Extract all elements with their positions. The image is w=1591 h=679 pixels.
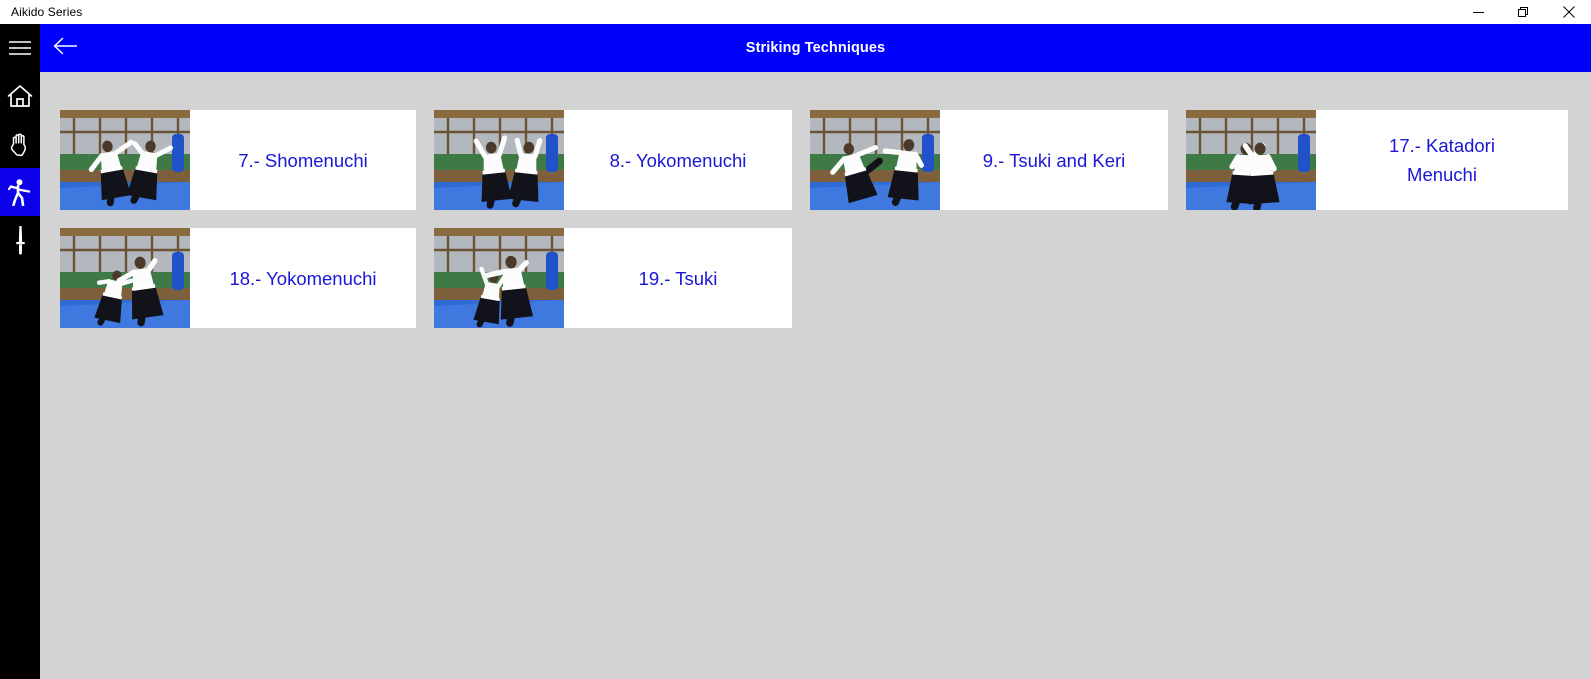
restore-button[interactable]: [1501, 0, 1546, 24]
hamburger-menu-icon: [8, 39, 32, 57]
window-controls: [1456, 0, 1591, 24]
technique-card-label: 9.- Tsuki and Keri: [940, 110, 1168, 210]
open-hand-icon: [8, 131, 32, 157]
aikido-yokomenuchi-2-thumb: [60, 228, 190, 328]
close-button[interactable]: [1546, 0, 1591, 24]
sidebar-item-weapons[interactable]: [0, 216, 40, 264]
aikido-tsuki-thumb: [434, 228, 564, 328]
aikido-yokomenuchi-thumb: [434, 110, 564, 210]
technique-card[interactable]: 17.- Katadori Menuchi: [1186, 110, 1568, 210]
aikido-shomenuchi-thumb: [60, 110, 190, 210]
page-header: Striking Techniques: [40, 24, 1591, 72]
technique-card[interactable]: 8.- Yokomenuchi: [434, 110, 792, 210]
content-area: 7.- Shomenuchi 8.- Yokomenuchi: [40, 72, 1591, 679]
technique-card[interactable]: 18.- Yokomenuchi: [60, 228, 416, 328]
home-icon: [7, 84, 33, 108]
sidebar-item-menu[interactable]: [0, 24, 40, 72]
back-button[interactable]: [43, 24, 89, 72]
technique-card-grid: 7.- Shomenuchi 8.- Yokomenuchi: [60, 110, 1591, 346]
window-title-bar: Aikido Series: [0, 0, 1591, 24]
technique-card[interactable]: 9.- Tsuki and Keri: [810, 110, 1168, 210]
minimize-button[interactable]: [1456, 0, 1501, 24]
sidebar-item-home[interactable]: [0, 72, 40, 120]
technique-card-label: 7.- Shomenuchi: [190, 110, 416, 210]
aikido-katadori-menuchi-thumb: [1186, 110, 1316, 210]
striking-figure-icon: [7, 178, 33, 206]
technique-card-label: 17.- Katadori Menuchi: [1316, 110, 1568, 210]
restore-icon: [1518, 7, 1529, 18]
technique-card-label: 8.- Yokomenuchi: [564, 110, 792, 210]
minimize-icon: [1473, 7, 1484, 18]
sidebar-nav: [0, 24, 40, 679]
arrow-left-icon: [53, 36, 79, 61]
technique-card-label: 18.- Yokomenuchi: [190, 228, 416, 328]
sidebar-item-empty-hand[interactable]: [0, 120, 40, 168]
sword-icon: [10, 225, 30, 255]
aikido-tsuki-keri-thumb: [810, 110, 940, 210]
app-title: Aikido Series: [0, 5, 82, 19]
close-icon: [1563, 6, 1575, 18]
page-title: Striking Techniques: [40, 40, 1591, 56]
sidebar-item-striking[interactable]: [0, 168, 40, 216]
technique-card[interactable]: 19.- Tsuki: [434, 228, 792, 328]
technique-card-label: 19.- Tsuki: [564, 228, 792, 328]
technique-card[interactable]: 7.- Shomenuchi: [60, 110, 416, 210]
